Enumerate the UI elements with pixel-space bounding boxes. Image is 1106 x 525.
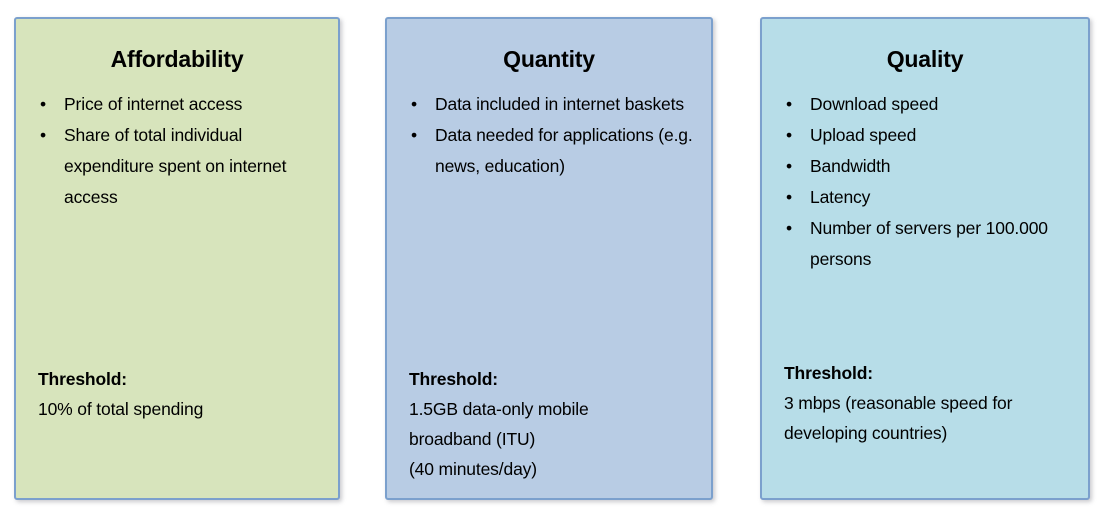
list-item: •Price of internet access <box>38 89 320 120</box>
threshold-line: 10% of total spending <box>38 394 322 424</box>
threshold-value: 10% of total spending <box>38 394 322 424</box>
threshold-line: (40 minutes/day) <box>409 454 695 484</box>
threshold-line: 1.5GB data-only mobile <box>409 394 695 424</box>
bullet-icon: • <box>411 89 417 120</box>
panel-quantity: Quantity •Data included in internet bask… <box>385 17 713 500</box>
threshold-line: broadband (ITU) <box>409 424 695 454</box>
bullet-icon: • <box>786 182 792 213</box>
diagram-canvas: Affordability •Price of internet access … <box>0 0 1106 525</box>
threshold-label: Threshold: <box>784 358 1072 388</box>
list-item: •Data needed for applications (e.g. news… <box>409 120 693 182</box>
bullet-icon: • <box>786 89 792 120</box>
bullet-icon: • <box>786 213 792 244</box>
bullet-list-quantity: •Data included in internet baskets •Data… <box>387 89 711 182</box>
list-item: •Latency <box>784 182 1070 213</box>
list-item: •Download speed <box>784 89 1070 120</box>
list-item: •Data included in internet baskets <box>409 89 693 120</box>
threshold-value: 1.5GB data-only mobile broadband (ITU) (… <box>409 394 695 484</box>
bullet-list-quality: •Download speed •Upload speed •Bandwidth… <box>762 89 1088 275</box>
bullet-icon: • <box>786 151 792 182</box>
list-item-label: Bandwidth <box>810 156 890 176</box>
panel-title-affordability: Affordability <box>16 45 338 73</box>
list-item-label: Upload speed <box>810 125 916 145</box>
bullet-icon: • <box>411 120 417 151</box>
list-item: •Share of total individual expenditure s… <box>38 120 320 213</box>
list-item: •Number of servers per 100.000 persons <box>784 213 1070 275</box>
list-item-label: Download speed <box>810 94 938 114</box>
threshold-line: 3 mbps (reasonable speed for developing … <box>784 388 1072 448</box>
bullet-icon: • <box>40 120 46 151</box>
list-item-label: Number of servers per 100.000 persons <box>810 218 1048 269</box>
threshold-value: 3 mbps (reasonable speed for developing … <box>784 388 1072 448</box>
panel-affordability: Affordability •Price of internet access … <box>14 17 340 500</box>
list-item-label: Share of total individual expenditure sp… <box>64 125 286 207</box>
list-item: •Upload speed <box>784 120 1070 151</box>
threshold-block-quantity: Threshold: 1.5GB data-only mobile broadb… <box>387 364 711 484</box>
list-item-label: Latency <box>810 187 870 207</box>
bullet-list-affordability: •Price of internet access •Share of tota… <box>16 89 338 213</box>
threshold-block-quality: Threshold: 3 mbps (reasonable speed for … <box>762 358 1088 448</box>
threshold-label: Threshold: <box>409 364 695 394</box>
panel-quality: Quality •Download speed •Upload speed •B… <box>760 17 1090 500</box>
threshold-label: Threshold: <box>38 364 322 394</box>
bullet-icon: • <box>786 120 792 151</box>
list-item-label: Price of internet access <box>64 94 242 114</box>
panel-title-quality: Quality <box>762 45 1088 73</box>
list-item-label: Data included in internet baskets <box>435 94 684 114</box>
list-item-label: Data needed for applications (e.g. news,… <box>435 125 693 176</box>
bullet-icon: • <box>40 89 46 120</box>
list-item: •Bandwidth <box>784 151 1070 182</box>
panel-title-quantity: Quantity <box>387 45 711 73</box>
threshold-block-affordability: Threshold: 10% of total spending <box>16 364 338 424</box>
